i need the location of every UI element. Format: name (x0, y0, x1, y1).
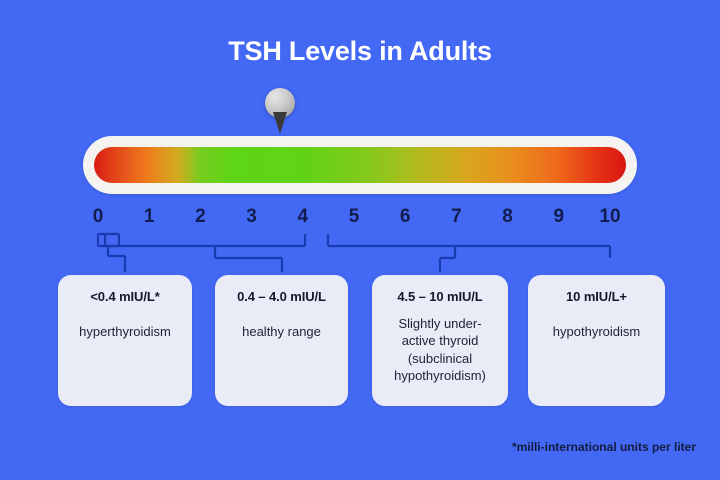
scale-tick-9: 9 (544, 206, 574, 228)
scale-tick-7: 7 (441, 206, 471, 228)
card-description: healthy range (223, 323, 340, 341)
scale-tick-8: 8 (493, 206, 523, 228)
card-range-label: 10 mIU/L+ (536, 289, 657, 305)
gauge-gradient-bar (94, 147, 626, 183)
info-card[interactable]: 10 mIU/L+ hypothyroidism (528, 275, 665, 406)
bracket-healthy (105, 234, 305, 272)
scale-tick-0: 0 (83, 206, 113, 228)
card-description: hypothyroidism (536, 323, 657, 341)
marker-pointer-icon (273, 112, 287, 134)
info-card[interactable]: 4.5 – 10 mIU/L Slightly under-active thy… (372, 275, 508, 406)
scale-tick-2: 2 (185, 206, 215, 228)
footnote-text: *milli-international units per liter (512, 440, 696, 454)
range-brackets (0, 228, 720, 280)
card-range-label: 4.5 – 10 mIU/L (380, 289, 500, 305)
card-description: hyperthyroidism (66, 323, 184, 341)
scale-tick-4: 4 (288, 206, 318, 228)
scale-tick-1: 1 (134, 206, 164, 228)
card-description: Slightly under-active thyroid(subclinica… (380, 315, 500, 385)
card-range-label: <0.4 mIU/L* (66, 289, 184, 305)
info-card[interactable]: <0.4 mIU/L* hyperthyroidism (58, 275, 192, 406)
scale-tick-3: 3 (237, 206, 267, 228)
card-range-label: 0.4 – 4.0 mIU/L (223, 289, 340, 305)
bracket-subclinical (328, 234, 610, 272)
page-title: TSH Levels in Adults (0, 36, 720, 67)
bracket-hyperthyroid (98, 234, 125, 272)
scale-tick-10: 10 (595, 206, 625, 228)
scale-tick-6: 6 (390, 206, 420, 228)
info-card[interactable]: 0.4 – 4.0 mIU/L healthy range (215, 275, 348, 406)
scale-tick-5: 5 (339, 206, 369, 228)
tsh-levels-infographic: TSH Levels in Adults 012345678910 <0.4 m… (0, 0, 720, 480)
gauge-track (83, 136, 637, 194)
